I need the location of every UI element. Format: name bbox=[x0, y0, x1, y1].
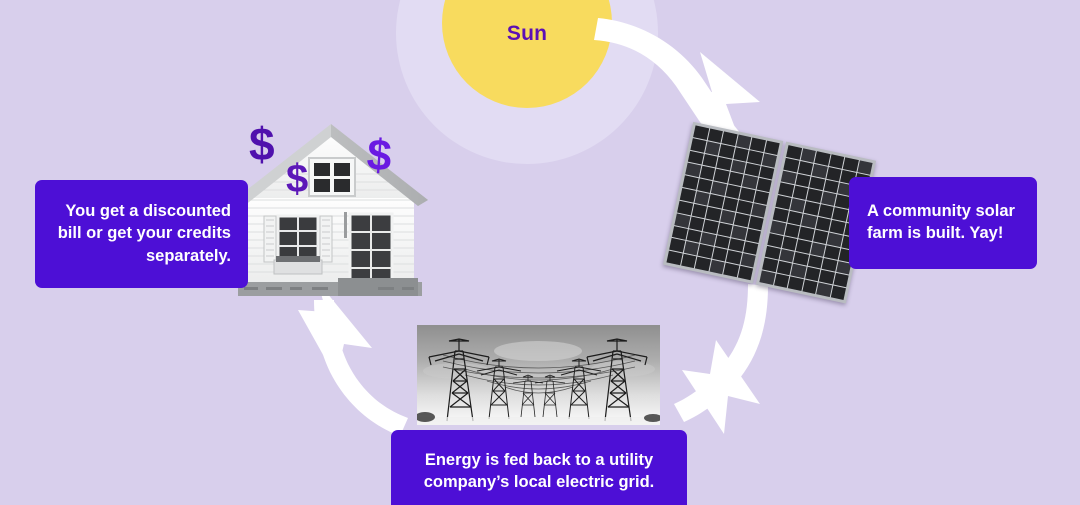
dollar-sign-icon: $ bbox=[286, 159, 308, 199]
power-grid-photo bbox=[417, 325, 660, 425]
callout-utility-grid[interactable]: Energy is fed back to a utility company’… bbox=[391, 430, 687, 505]
callout-house-credits[interactable]: You get a discounted bill or get your cr… bbox=[35, 180, 248, 288]
arrow-panel-to-grid bbox=[674, 284, 768, 434]
arrow-grid-to-house bbox=[298, 282, 408, 436]
callout-solar-farm[interactable]: A community solar farm is built. Yay! bbox=[849, 177, 1037, 269]
dollar-sign-icon: $ bbox=[365, 133, 392, 179]
dollar-sign-icon: $ bbox=[249, 121, 275, 167]
infographic-canvas: Sun bbox=[0, 0, 1080, 505]
